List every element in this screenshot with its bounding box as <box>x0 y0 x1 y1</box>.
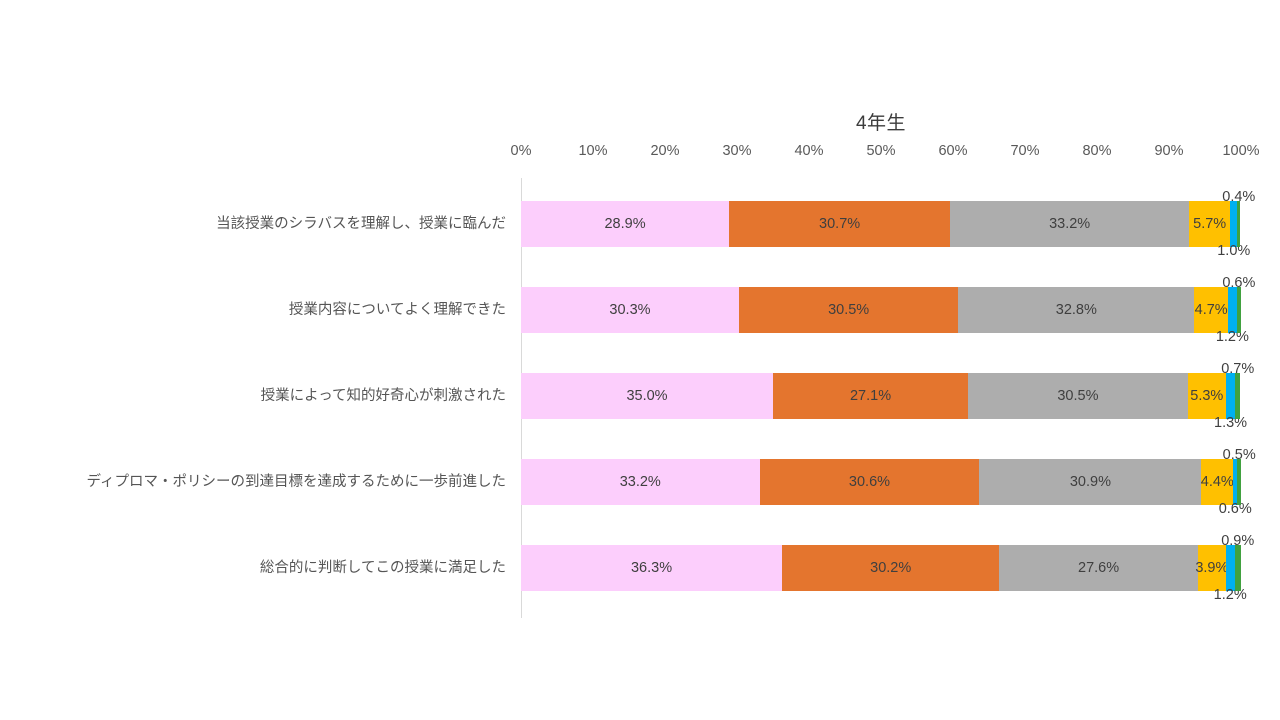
bar-stack: 28.9%30.7%33.2%5.7%1.0%0.4% <box>521 201 1241 247</box>
bar-segment-label: 27.1% <box>850 388 891 404</box>
bar-row: 35.0%27.1%30.5%5.3%1.3%0.7% <box>521 373 1241 419</box>
bar-segment-6[interactable]: 0.9% <box>1235 545 1241 591</box>
bar-stack: 35.0%27.1%30.5%5.3%1.3%0.7% <box>521 373 1241 419</box>
bar-segment-4[interactable]: 4.4% <box>1201 459 1233 505</box>
bar-segment-1[interactable]: 36.3% <box>521 545 782 591</box>
bar-segment-label: 35.0% <box>626 388 667 404</box>
x-axis-tick-labels: 0%10%20%30%40%50%60%70%80%90%100% <box>521 143 1241 163</box>
category-label: 当該授業のシラバスを理解し、授業に臨んだ <box>6 201 506 247</box>
bar-segment-label: 30.5% <box>1057 388 1098 404</box>
bar-segment-3[interactable]: 27.6% <box>999 545 1198 591</box>
bar-segment-5[interactable]: 1.0% <box>1230 201 1237 247</box>
x-axis-tick-30: 30% <box>722 143 751 159</box>
bar-row: 36.3%30.2%27.6%3.9%1.2%0.9% <box>521 545 1241 591</box>
x-axis-tick-70: 70% <box>1010 143 1039 159</box>
y-axis-category-labels: 当該授業のシラバスを理解し、授業に臨んだ授業内容についてよく理解できた授業によっ… <box>0 178 506 618</box>
bar-row: 30.3%30.5%32.8%4.7%1.2%0.6% <box>521 287 1241 333</box>
bar-segment-label: 36.3% <box>631 560 672 576</box>
x-axis-tick-60: 60% <box>938 143 967 159</box>
bar-segment-2[interactable]: 30.6% <box>760 459 980 505</box>
chart-title: 4年生 <box>521 108 1241 135</box>
x-axis-tick-80: 80% <box>1082 143 1111 159</box>
bar-segment-label: 4.7% <box>1195 302 1228 318</box>
bar-segment-3[interactable]: 30.9% <box>979 459 1201 505</box>
bar-segment-label: 5.3% <box>1190 388 1223 404</box>
bar-segment-4[interactable]: 5.7% <box>1189 201 1230 247</box>
bar-segment-label: 30.5% <box>828 302 869 318</box>
bar-segment-2[interactable]: 30.7% <box>729 201 950 247</box>
bar-segment-4[interactable]: 5.3% <box>1188 373 1226 419</box>
bar-segment-5[interactable]: 1.2% <box>1228 287 1237 333</box>
bar-segment-2[interactable]: 30.5% <box>739 287 958 333</box>
category-label: ディプロマ・ポリシーの到達目標を達成するために一歩前進した <box>6 459 506 505</box>
bar-segment-4[interactable]: 4.7% <box>1194 287 1228 333</box>
x-axis-tick-10: 10% <box>578 143 607 159</box>
bar-segment-label: 30.2% <box>870 560 911 576</box>
bar-segment-1[interactable]: 28.9% <box>521 201 729 247</box>
bar-segment-1[interactable]: 35.0% <box>521 373 773 419</box>
bar-row: 28.9%30.7%33.2%5.7%1.0%0.4% <box>521 201 1241 247</box>
bar-segment-label: 30.3% <box>609 302 650 318</box>
bar-segment-label: 30.9% <box>1070 474 1111 490</box>
bar-stack: 33.2%30.6%30.9%4.4%0.6%0.5% <box>521 459 1241 505</box>
bar-segment-label: 3.9% <box>1195 560 1228 576</box>
category-label: 総合的に判断してこの授業に満足した <box>6 545 506 591</box>
bar-segment-6[interactable]: 0.7% <box>1235 373 1240 419</box>
bar-segment-3[interactable]: 33.2% <box>950 201 1189 247</box>
bar-segment-5[interactable]: 1.2% <box>1226 545 1235 591</box>
bar-segment-6[interactable]: 0.5% <box>1237 459 1241 505</box>
bar-segment-1[interactable]: 30.3% <box>521 287 739 333</box>
bar-segment-label: 32.8% <box>1056 302 1097 318</box>
bar-segment-6[interactable]: 0.6% <box>1237 287 1241 333</box>
bar-segment-2[interactable]: 27.1% <box>773 373 968 419</box>
plot-area: 28.9%30.7%33.2%5.7%1.0%0.4%30.3%30.5%32.… <box>521 178 1241 618</box>
bar-segment-6[interactable]: 0.4% <box>1237 201 1240 247</box>
stacked-bar-chart: 4年生 0%10%20%30%40%50%60%70%80%90%100% 当該… <box>0 0 1280 720</box>
x-axis-tick-0: 0% <box>511 143 532 159</box>
x-axis-tick-100: 100% <box>1222 143 1259 159</box>
category-label: 授業によって知的好奇心が刺激された <box>6 373 506 419</box>
bar-segment-label: 5.7% <box>1193 216 1226 232</box>
x-axis-tick-90: 90% <box>1154 143 1183 159</box>
bar-segment-4[interactable]: 3.9% <box>1198 545 1226 591</box>
bar-segment-label: 30.7% <box>819 216 860 232</box>
bar-segment-label: 33.2% <box>620 474 661 490</box>
bar-stack: 30.3%30.5%32.8%4.7%1.2%0.6% <box>521 287 1241 333</box>
bar-row: 33.2%30.6%30.9%4.4%0.6%0.5% <box>521 459 1241 505</box>
bar-segment-5[interactable]: 1.3% <box>1226 373 1235 419</box>
bar-segment-3[interactable]: 30.5% <box>968 373 1188 419</box>
x-axis-tick-20: 20% <box>650 143 679 159</box>
bar-segment-3[interactable]: 32.8% <box>958 287 1194 333</box>
bar-segment-label: 27.6% <box>1078 560 1119 576</box>
x-axis-tick-40: 40% <box>794 143 823 159</box>
bar-segment-label: 33.2% <box>1049 216 1090 232</box>
bar-segment-2[interactable]: 30.2% <box>782 545 999 591</box>
x-axis-tick-50: 50% <box>866 143 895 159</box>
category-label: 授業内容についてよく理解できた <box>6 287 506 333</box>
bar-segment-1[interactable]: 33.2% <box>521 459 760 505</box>
bar-segment-label: 28.9% <box>604 216 645 232</box>
bar-segment-label: 30.6% <box>849 474 890 490</box>
bar-segment-label: 4.4% <box>1201 474 1234 490</box>
bar-stack: 36.3%30.2%27.6%3.9%1.2%0.9% <box>521 545 1241 591</box>
